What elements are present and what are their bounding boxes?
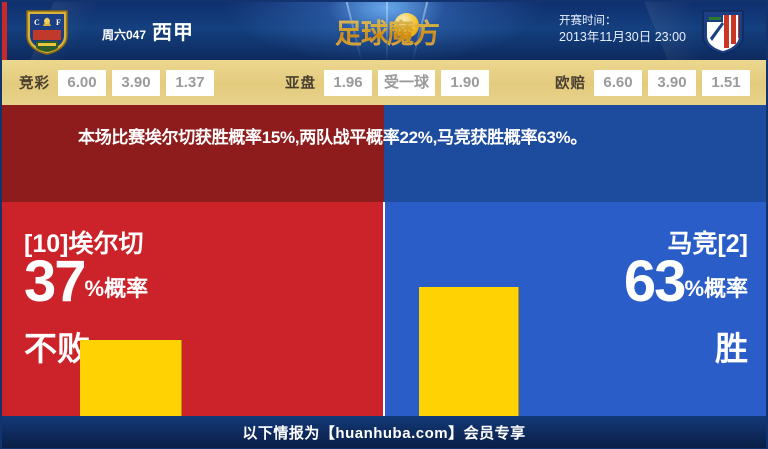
odds-value-jingcai-home[interactable]: 6.00: [58, 70, 106, 96]
kickoff-time: 2013年11月30日 23:00: [559, 29, 686, 46]
home-side-panel: [10]埃尔切 37 %概率 不败: [2, 202, 384, 416]
elche-crest-icon: C F: [24, 8, 70, 55]
odds-group-yapan: 亚盘 1.96 受一球 1.90: [285, 70, 489, 96]
footer-text: 以下情报为【huanhuba.com】会员专享: [242, 422, 525, 443]
summary-left-panel: [2, 105, 384, 202]
footer-bar: 以下情报为【huanhuba.com】会员专享: [2, 416, 766, 448]
away-probability-unit: %概率: [684, 272, 748, 310]
away-probability-value: 63: [624, 254, 685, 310]
odds-value-oupei-draw[interactable]: 3.90: [648, 70, 696, 96]
away-side-panel: 马竞[2] 63 %概率 胜: [384, 202, 766, 416]
svg-text:F: F: [56, 18, 61, 27]
home-probability: 37 %概率: [24, 254, 148, 310]
odds-group-oupei: 欧赔 6.60 3.90 1.51: [555, 70, 750, 96]
odds-bar: 竞彩 6.00 3.90 1.37 亚盘 1.96 受一球 1.90 欧赔 6.…: [2, 60, 766, 105]
kickoff-info: 开赛时间： 2013年11月30日 23:00: [559, 13, 686, 46]
away-outcome-label: 胜: [715, 322, 748, 370]
summary-text: 本场比赛埃尔切获胜概率15%,两队战平概率22%,马竞获胜概率63%。: [78, 123, 726, 153]
odds-value-yapan-away[interactable]: 1.90: [441, 70, 489, 96]
panel-divider: [383, 202, 385, 416]
match-round: 周六047: [102, 26, 146, 43]
odds-value-yapan-handicap[interactable]: 受一球: [378, 70, 435, 96]
league-name: 西甲: [152, 16, 194, 45]
odds-label-oupei: 欧赔: [555, 72, 586, 93]
odds-group-jingcai: 竞彩 6.00 3.90 1.37: [19, 70, 214, 96]
site-logo-text: 足球魔方: [335, 12, 439, 51]
league-info: 周六047 西甲: [102, 16, 194, 45]
odds-value-oupei-away[interactable]: 1.51: [702, 70, 750, 96]
odds-value-yapan-home[interactable]: 1.96: [324, 70, 372, 96]
odds-value-jingcai-draw[interactable]: 3.90: [112, 70, 160, 96]
home-probability-bar: [80, 340, 182, 416]
svg-text:C: C: [34, 18, 40, 27]
match-preview-card: C F 周六047 西甲 足球魔方 开赛时间： 2013年11月30日 23:0…: [0, 0, 768, 449]
away-probability: 63 %概率: [624, 254, 748, 310]
match-header: C F 周六047 西甲 足球魔方 开赛时间： 2013年11月30日 23:0…: [2, 2, 766, 60]
probability-summary-banner: 本场比赛埃尔切获胜概率15%,两队战平概率22%,马竞获胜概率63%。: [2, 105, 766, 202]
site-logo[interactable]: 足球魔方: [331, 11, 443, 51]
header-accent-stripe: [2, 2, 7, 60]
odds-value-jingcai-away[interactable]: 1.37: [166, 70, 214, 96]
kickoff-label: 开赛时间：: [559, 13, 686, 29]
probability-chart: [10]埃尔切 37 %概率 不败 马竞[2] 63 %概率 胜: [2, 202, 766, 416]
away-probability-bar: [419, 287, 519, 416]
summary-right-panel: [384, 105, 766, 202]
odds-label-jingcai: 竞彩: [19, 72, 50, 93]
odds-label-yapan: 亚盘: [285, 72, 316, 93]
home-probability-unit: %概率: [85, 272, 149, 310]
home-probability-value: 37: [24, 254, 85, 310]
odds-value-oupei-home[interactable]: 6.60: [594, 70, 642, 96]
atletico-madrid-crest-icon: [700, 8, 746, 55]
